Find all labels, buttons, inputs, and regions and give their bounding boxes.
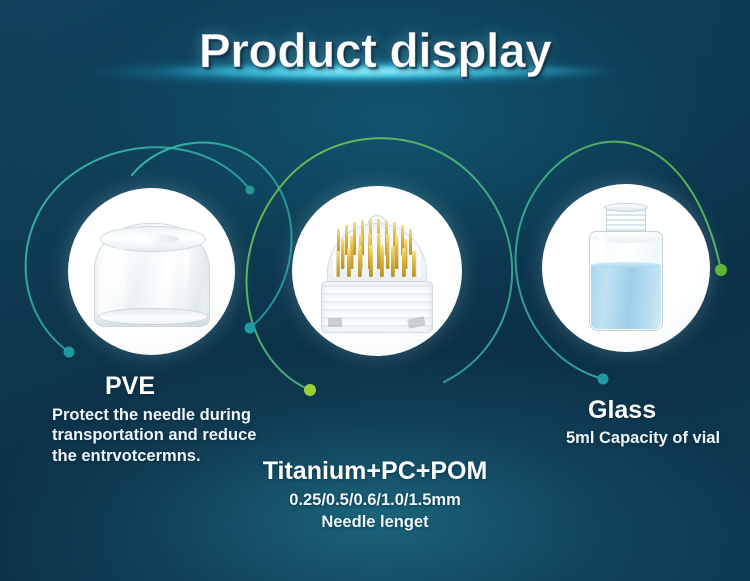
glass-heading: Glass	[588, 396, 656, 425]
dot-green-glass-right	[715, 264, 727, 276]
vial-neck-lip	[604, 203, 648, 212]
cartridge-base	[321, 281, 433, 333]
cartridge-notch-right	[407, 316, 425, 328]
cartridge-notch-left	[328, 318, 342, 327]
product-display-banner: Product display	[0, 0, 750, 581]
vial-body	[589, 231, 663, 331]
glass-description: 5ml Capacity of vial	[566, 428, 720, 448]
dot-teal-tip-upper	[246, 186, 255, 195]
pve-cap-base	[98, 308, 208, 325]
dot-teal-pve-left	[64, 347, 75, 358]
cartridge-shape	[321, 209, 433, 333]
pve-heading: PVE	[105, 372, 155, 401]
cartridge-needle-length-label: Needle lenget	[0, 512, 750, 532]
cartridge-needle-sizes: 0.25/0.5/0.6/1.0/1.5mm	[0, 490, 750, 510]
dot-teal-pve-right	[245, 323, 256, 334]
dot-teal-glass-lower	[598, 374, 609, 385]
gold-needles-icon	[321, 209, 433, 289]
cartridge-heading: Titanium+PC+POM	[0, 457, 750, 486]
pve-cap-highlight-right	[181, 250, 190, 308]
pve-cap-sheen	[123, 234, 179, 244]
vial-liquid	[591, 265, 661, 329]
pve-cap-highlight-left	[111, 248, 126, 314]
vial-liquid-surface	[592, 262, 660, 268]
pve-cap-image	[68, 188, 235, 355]
pve-cap-shape	[94, 223, 210, 327]
vial-shape	[589, 205, 663, 331]
glass-vial-image	[542, 184, 710, 352]
needle-cartridge-image	[292, 186, 462, 356]
dot-green-tip-lower	[304, 384, 316, 396]
